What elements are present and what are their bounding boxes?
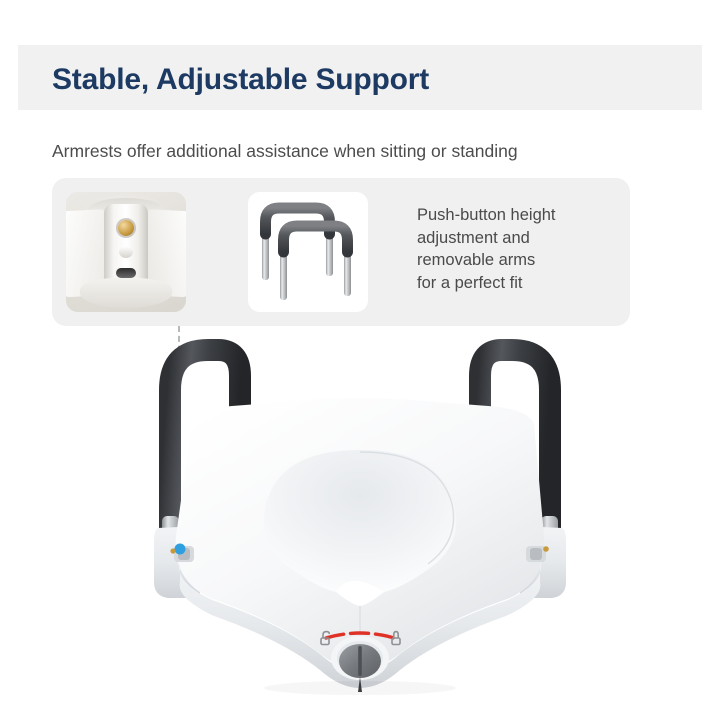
page-title: Stable, Adjustable Support [52,63,429,97]
arm-socket-right [526,546,549,562]
push-button-left-icon [170,548,175,553]
push-button-icon [118,220,134,236]
callout-line-1: Push-button height [417,204,617,227]
socket-bottom-shadow [80,278,172,308]
socket-slot [116,268,136,278]
armrest-bar-front [280,226,351,300]
page-subtitle: Armrests offer additional assistance whe… [52,140,518,162]
arm-socket-photo [66,192,186,312]
callout-line-3: removable arms [417,249,617,272]
callout-description: Push-button height adjustment and remova… [417,204,617,294]
marker-dot-icon [175,544,186,555]
armrest-bars-photo [248,192,368,312]
push-button-right-icon [543,546,549,552]
armrest-bar-back [262,208,333,280]
arm-socket-closeup-image [66,192,186,312]
product-feature-image: Stable, Adjustable Support Armrests offe… [0,0,720,720]
product-shadow [264,681,456,695]
callout-line-2: adjustment and [417,227,617,250]
removable-armrest-bars-image [248,192,368,312]
knob-slot [358,646,362,676]
feature-callout-panel: Push-button height adjustment and remova… [52,178,630,326]
socket-notch [119,246,133,258]
product-image [140,330,580,702]
callout-line-4: for a perfect fit [417,272,617,295]
